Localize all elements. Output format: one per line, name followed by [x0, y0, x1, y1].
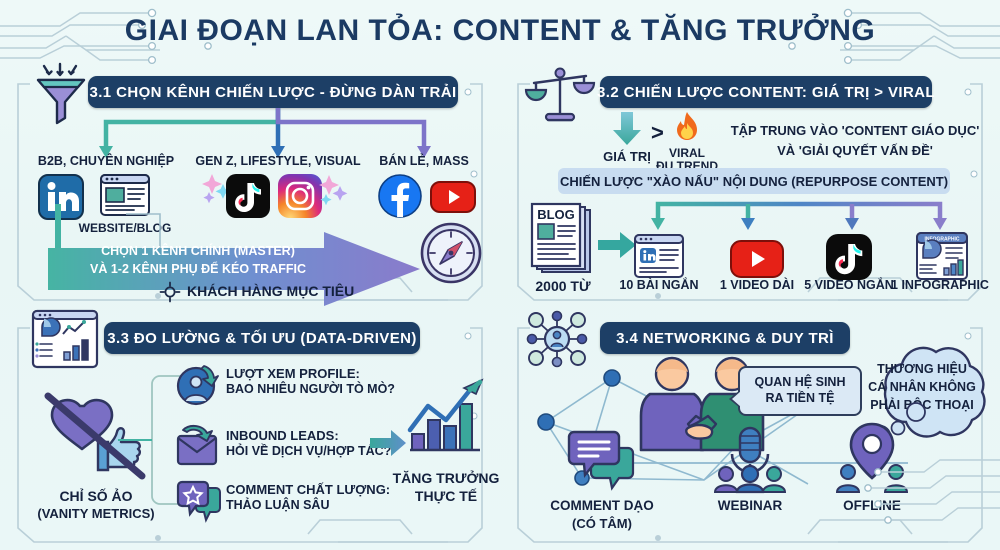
- blog-wordcount-label: 2000 TỪ: [535, 278, 590, 294]
- comment-chat-icon: [568, 430, 636, 492]
- facebook-icon[interactable]: [378, 174, 422, 218]
- sparkle-decoration-right-icon: [320, 172, 348, 204]
- blog-to-outputs-arrow: [598, 232, 636, 258]
- comparison-operator: >: [651, 120, 664, 146]
- panel-3-4-badge[interactable]: 3.4 NETWORKING & DUY TRÌ: [600, 322, 850, 354]
- speech-bubble-line1: QUAN HỆ SINH: [755, 375, 846, 391]
- circuit-decoration-bottom-right: [820, 442, 1000, 532]
- branch-label-b2b: B2B, CHUYÊN NGHIỆP: [38, 154, 174, 168]
- no-vanity-metrics-icon: [42, 390, 152, 482]
- channel-label-comment-line2: (CÓ TÂM): [572, 516, 632, 531]
- instagram-icon[interactable]: [278, 174, 322, 218]
- value-label: GIÁ TRỊ: [603, 149, 651, 164]
- channel-label-webinar: WEBINAR: [718, 498, 783, 513]
- scales-balance-icon: [524, 64, 596, 130]
- page-title: GIAI ĐOẠN LAN TỎA: CONTENT & TĂNG TRƯỞNG: [0, 14, 1000, 48]
- tiktok-short-video-icon[interactable]: [826, 234, 872, 280]
- panel-3-3: 3.3 ĐO LƯỜNG & TỐI ƯU (DATA-DRIVEN) CHỈ …: [8, 308, 492, 542]
- blog-document-icon: BLOG: [532, 204, 594, 276]
- fire-icon: [673, 112, 701, 144]
- focus-line1: TẬP TRUNG VÀO 'CONTENT GIÁO DỤC': [730, 121, 980, 141]
- master-arrow-line1: CHỌN 1 KÊNH CHÍNH (MASTER): [68, 242, 328, 260]
- infographic-icon[interactable]: INFOGRAPHIC: [916, 232, 968, 282]
- branch-label-genz: GEN Z, LIFESTYLE, VISUAL: [195, 154, 360, 168]
- metric-title-inbound-leads: INBOUND LEADS:: [226, 428, 339, 443]
- webinar-mic-icon: [710, 426, 790, 494]
- metric-title-profile-views: LƯỢT XEM PROFILE:: [226, 366, 360, 381]
- focus-text: TẬP TRUNG VÀO 'CONTENT GIÁO DỤC' VÀ 'GIẢ…: [730, 121, 980, 160]
- master-arrow-line2: VÀ 1-2 KÊNH PHỤ ĐỂ KÉO TRAFFIC: [68, 260, 328, 278]
- youtube-long-video-icon[interactable]: [730, 240, 784, 278]
- output-label-posts: 10 BÀI NGẮN: [619, 278, 698, 292]
- panel-3-3-badge[interactable]: 3.3 ĐO LƯỜNG & TỐI ƯU (DATA-DRIVEN): [104, 322, 420, 354]
- branch-label-retail: BÁN LẺ, MASS: [379, 154, 469, 168]
- speech-bubble-line2: RA TIỀN TỆ: [755, 391, 846, 407]
- speech-bubble-relationships: QUAN HỆ SINH RA TIỀN TỆ: [738, 366, 862, 416]
- focus-line2: VÀ 'GIẢI QUYẾT VẤN ĐỀ': [730, 141, 980, 161]
- growth-result-arrow: [370, 430, 406, 456]
- target-customer-label: KHÁCH HÀNG MỤC TIÊU: [187, 283, 354, 299]
- viral-label-line1: VIRAL: [669, 146, 705, 160]
- vanity-metrics-label-line1: CHỈ SỐ ẢO: [59, 488, 132, 504]
- infographic-root: GIAI ĐOẠN LAN TỎA: CONTENT & TĂNG TRƯỞNG: [0, 0, 1000, 550]
- channel-label-comment-line1: COMMENT DẠO: [550, 498, 654, 513]
- output-label-long-video: 1 VIDEO DÀI: [720, 278, 794, 292]
- thought-cloud-line1: THƯƠNG HIỆU: [860, 360, 984, 378]
- linkedin-post-icon[interactable]: [634, 234, 684, 280]
- profile-views-icon: [176, 364, 218, 406]
- dashboard-analytics-icon: [32, 310, 98, 368]
- panel-3-2-badge[interactable]: 3.2 CHIẾN LƯỢC CONTENT: GIÁ TRỊ > VIRAL: [600, 76, 932, 108]
- metric-desc-inbound-leads: HỎI VỀ DỊCH VỤ/HỢP TÁC?: [226, 444, 391, 458]
- compass-icon: [420, 222, 482, 284]
- inbound-mail-icon: [176, 426, 222, 466]
- panel-3-1-badge[interactable]: 3.1 CHỌN KÊNH CHIẾN LƯỢC - ĐỪNG DÀN TRẢI: [88, 76, 458, 108]
- growth-label-line2: THỰC TẾ: [415, 488, 477, 504]
- growth-label-line1: TĂNG TRƯỞNG: [393, 470, 500, 486]
- metric-desc-profile-views: BAO NHIÊU NGƯỜI TÒ MÒ?: [226, 382, 395, 396]
- repurpose-connectors: [640, 196, 956, 234]
- vanity-metrics-label-line2: (VANITY METRICS): [37, 506, 154, 521]
- repurpose-bar: CHIẾN LƯỢC "XÀO NẤU" NỘI DUNG (REPURPOSE…: [558, 168, 950, 194]
- funnel-icon: [30, 56, 92, 126]
- metric-desc-quality-comment: THẢO LUẬN SÂU: [226, 498, 329, 512]
- output-label-short-video: 5 VIDEO NGẮN: [804, 278, 894, 292]
- svg-text:BLOG: BLOG: [537, 207, 575, 222]
- thought-cloud-line2: CÁ NHÂN KHÔNG: [860, 378, 984, 396]
- panel-3-2: 3.2 CHIẾN LƯỢC CONTENT: GIÁ TRỊ > VIRAL …: [508, 64, 992, 300]
- metric-title-quality-comment: COMMENT CHẤT LƯỢNG:: [226, 482, 390, 497]
- branch-connectors-3-1: [86, 108, 446, 160]
- youtube-icon[interactable]: [430, 181, 476, 213]
- output-label-infographic: 1 INFOGRAPHIC: [891, 278, 989, 292]
- down-arrow-icon: [612, 112, 642, 146]
- quality-comment-icon: [176, 480, 222, 524]
- master-arrow-text: CHỌN 1 KÊNH CHÍNH (MASTER) VÀ 1-2 KÊNH P…: [68, 242, 328, 278]
- growth-chart-icon: [406, 376, 486, 462]
- panel-3-1: 3.1 CHỌN KÊNH CHIẾN LƯỢC - ĐỪNG DÀN TRẢI…: [8, 64, 492, 300]
- target-crosshair-icon: [160, 282, 180, 302]
